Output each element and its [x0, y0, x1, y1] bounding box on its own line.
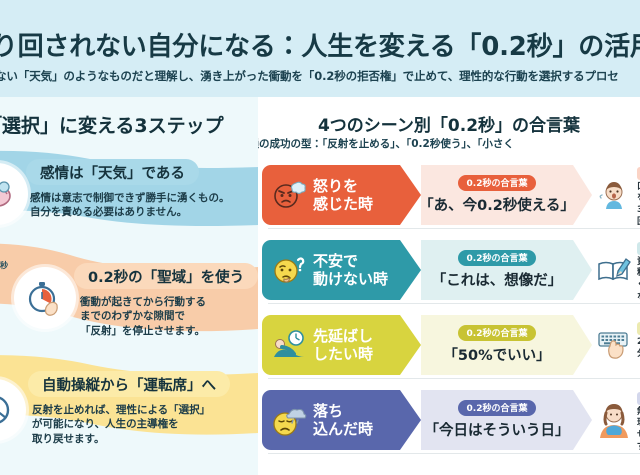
procrastinate-icon: [270, 326, 308, 364]
step-3-title-pill: 自動操縦から「運転席」へ: [28, 371, 230, 397]
thinking-face-icon: [270, 251, 308, 289]
phrase-badge-procrastination: 0.2秒の合言葉: [458, 325, 537, 341]
self-care-hug-icon: [594, 400, 634, 440]
left-panel: を「選択」に変える3ステップ 秒 感情は「天気」である 感情は意志で制御できず勝…: [0, 97, 258, 475]
angry-face-icon: [270, 176, 308, 214]
step-card-1[interactable]: 感情は「天気」である 感情は意志で制御できず勝手に湧くもの。 自分を責める必要は…: [0, 149, 258, 245]
angry-face-glyph: [271, 177, 307, 213]
scene-situation-procrastination: 先延ばし したい時: [262, 315, 400, 375]
scene-label-anxiety: 不安で 動けない時: [313, 252, 388, 288]
scene-situation-anger: 怒りを 感じた時: [262, 165, 400, 225]
phrase-text-procrastination: 「50%でいい」: [443, 344, 550, 365]
header-band: 振り回されない自分になる：人生を変える「0.2秒」の活用 ロールできない「天気」…: [0, 0, 640, 97]
step-card-3[interactable]: 自動操縦から「運転席」へ 反射を止めれば、理性による「選択」 が可能になり、人生…: [0, 363, 258, 467]
sad-cloud-face-icon: [270, 401, 308, 439]
self-care-hug-glyph: [596, 401, 632, 439]
row-divider-4: [268, 453, 640, 454]
row-divider-2: [268, 303, 640, 304]
sad-cloud-face-glyph: [270, 401, 308, 439]
step-2-title: 0.2秒の「聖域」を使う: [88, 266, 244, 287]
row-divider-1: [268, 228, 640, 229]
scene-label-procrastination: 先延ばし したい時: [313, 327, 373, 363]
keyboard-hand-icon: [594, 325, 634, 365]
scene-row-procrastination[interactable]: 先延ばし したい時 0.2秒の合言葉 「50%でいい」: [262, 315, 640, 375]
scene-phrase-depression: 0.2秒の合言葉 「今日はそういう日」: [421, 390, 573, 450]
phrase-text-depression: 「今日はそういう日」: [425, 419, 570, 440]
phrase-badge-anger: 0.2秒の合言葉: [458, 175, 537, 191]
scene-row-anger[interactable]: 怒りを 感じた時 0.2秒の合言葉 「あ、今0.2秒使える」: [262, 165, 640, 225]
step-1-title: 感情は「天気」である: [40, 162, 185, 183]
step-2-description: 衝動が起きてから行動する までのわずかな隙間で 「反射」を停止させます。: [80, 295, 258, 338]
scene-phrase-anger: 0.2秒の合言葉 「あ、今0.2秒使える」: [421, 165, 573, 225]
scene-action-anxiety: 最初 資料 くな: [592, 240, 640, 300]
step-2-title-pill: 0.2秒の「聖域」を使う: [74, 263, 258, 289]
scene-action-procrastination: 最初 2分 （即: [592, 315, 640, 375]
scene-label-anger: 怒りを 感じた時: [313, 177, 373, 213]
phrase-badge-depression: 0.2秒の合言葉: [458, 400, 537, 416]
right-section-subtitle: 共通の成功の型：「反射を止める」、「0.2秒使う」、「小さく: [258, 136, 640, 151]
step-3-title: 自動操縦から「運転席」へ: [42, 374, 216, 395]
scene-situation-depression: 落ち 込んだ時: [262, 390, 400, 450]
brain-weather-icon: [0, 163, 28, 225]
brain-weather-glyph: [0, 174, 17, 214]
person-breathing-glyph: [596, 177, 632, 213]
scene-row-depression[interactable]: 落ち 込んだ時 0.2秒の合言葉 「今日はそういう日」: [262, 390, 640, 450]
page-title: 振り回されない自分になる：人生を変える「0.2秒」の活用: [0, 26, 640, 63]
scene-label-depression: 落ち 込んだ時: [313, 402, 373, 438]
left-section-heading: を「選択」に変える3ステップ: [0, 111, 258, 138]
step-card-2[interactable]: 0.2秒の「聖域」を使う 衝動が起きてから行動する までのわずかな隙間で 「反射…: [0, 255, 258, 359]
step-1-description: 感情は意志で制御できず勝手に湧くもの。 自分を責める必要はありません。: [30, 191, 258, 220]
right-section-heading: 4つのシーン別「0.2秒」の合言葉: [258, 111, 640, 136]
row-divider-3: [268, 378, 640, 379]
step-3-description: 反射を止めれば、理性による「選択」 が可能になり、人生の主導権を 取り戻せます。: [32, 403, 258, 446]
scene-action-depression: 最初 無理 せず: [592, 390, 640, 450]
steering-wheel-glyph: [0, 390, 15, 430]
scene-phrase-anxiety: 0.2秒の合言葉 「これは、想像だ」: [421, 240, 573, 300]
step-1-title-pill: 感情は「天気」である: [26, 159, 199, 185]
steering-wheel-icon: [0, 379, 26, 441]
stopwatch-hand-glyph: [24, 277, 66, 319]
thinking-face-glyph: [271, 252, 307, 288]
infographic-page: 振り回されない自分になる：人生を変える「0.2秒」の活用 ロールできない「天気」…: [0, 0, 640, 475]
keyboard-hand-glyph: [595, 328, 633, 362]
phrase-text-anxiety: 「これは、想像だ」: [432, 269, 563, 290]
scene-phrase-procrastination: 0.2秒の合言葉 「50%でいい」: [421, 315, 573, 375]
notebook-pen-glyph: [596, 252, 632, 288]
scene-row-anxiety[interactable]: 不安で 動けない時 0.2秒の合言葉 「これは、想像だ」 最初: [262, 240, 640, 300]
scene-action-anger: 最初 口を 3回: [592, 165, 640, 225]
phrase-badge-anxiety: 0.2秒の合言葉: [458, 250, 537, 266]
scene-situation-anxiety: 不安で 動けない時: [262, 240, 400, 300]
right-panel: 4つのシーン別「0.2秒」の合言葉 共通の成功の型：「反射を止める」、「0.2秒…: [258, 97, 640, 475]
procrastinate-glyph: [270, 327, 308, 363]
page-subtitle: ロールできない「天気」のようなものだと理解し、湧き上がった衝動を「0.2秒の拒否…: [0, 68, 640, 84]
stopwatch-hand-icon: [14, 267, 76, 329]
notebook-pen-icon: [594, 250, 634, 290]
person-breathing-icon: [594, 175, 634, 215]
phrase-text-anger: 「あ、今0.2秒使える」: [419, 194, 575, 215]
